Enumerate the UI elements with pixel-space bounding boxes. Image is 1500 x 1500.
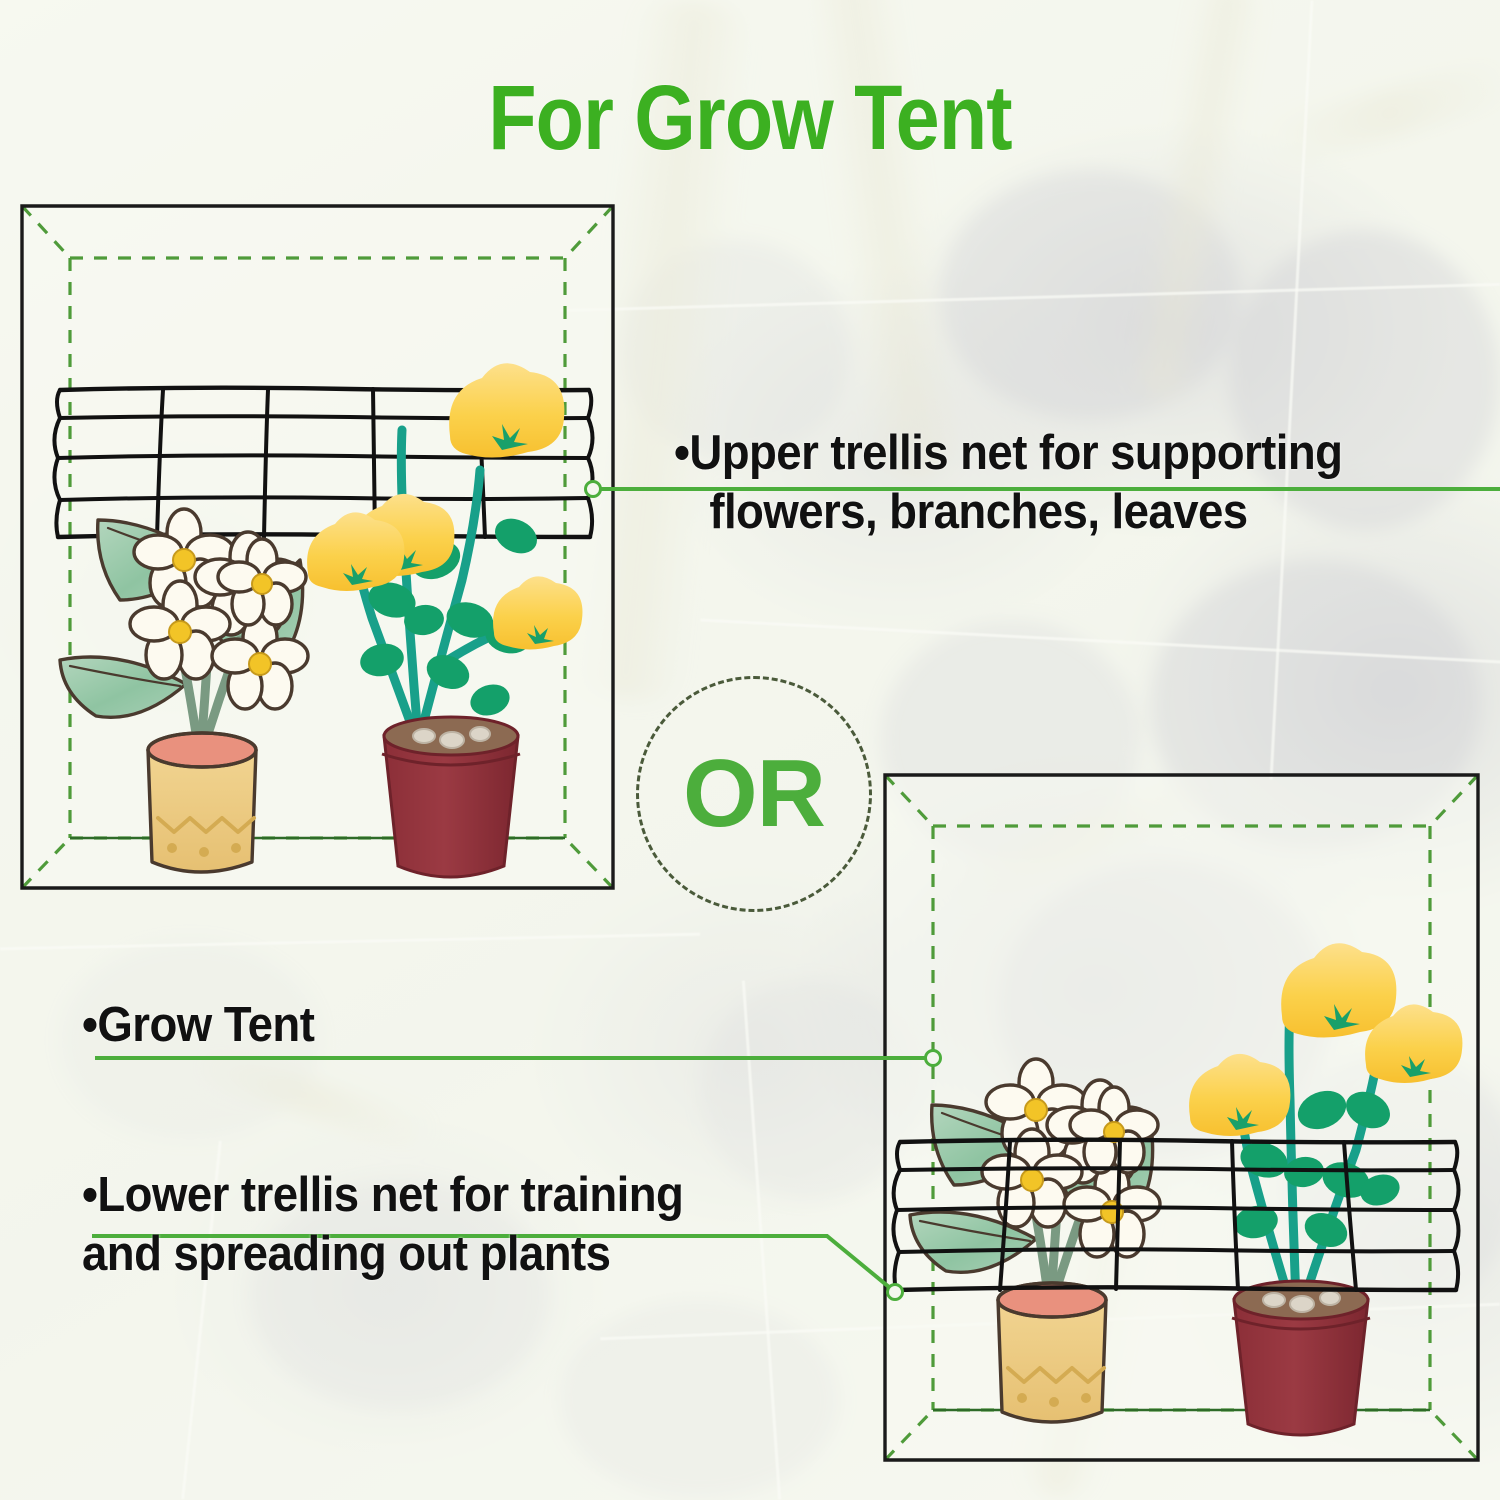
tan-pot <box>998 1283 1106 1422</box>
callout-upper-trellis-line2: flowers, branches, leaves <box>674 483 1342 542</box>
callout-lower-trellis-line2: and spreading out plants <box>82 1225 683 1284</box>
maroon-pot <box>1232 1281 1370 1435</box>
bullet-icon: • <box>82 998 97 1052</box>
maroon-pot <box>382 717 520 877</box>
leader-line-grow-tent <box>95 1056 940 1060</box>
lower-tent <box>860 760 1500 1500</box>
or-badge-label: OR <box>636 676 872 912</box>
infographic-canvas: For Grow Tent <box>0 0 1500 1500</box>
bullet-icon: • <box>674 426 689 480</box>
upper-tent <box>0 0 640 920</box>
leader-knob-grow-tent <box>924 1049 942 1067</box>
callout-grow-tent: •Grow Tent <box>82 996 332 1055</box>
callout-grow-tent-line1: Grow Tent <box>97 998 314 1052</box>
callout-lower-trellis-line1: Lower trellis net for training <box>97 1168 683 1222</box>
callout-lower-trellis: •Lower trellis net for training and spre… <box>82 1166 729 1284</box>
leader-knob-upper-trellis <box>584 480 602 498</box>
tan-pot <box>148 733 256 872</box>
bullet-icon: • <box>82 1168 97 1222</box>
leader-knob-lower-trellis <box>886 1283 904 1301</box>
callout-upper-trellis: •Upper trellis net for supporting flower… <box>674 424 1393 542</box>
callout-upper-trellis-line1: Upper trellis net for supporting <box>689 426 1342 480</box>
